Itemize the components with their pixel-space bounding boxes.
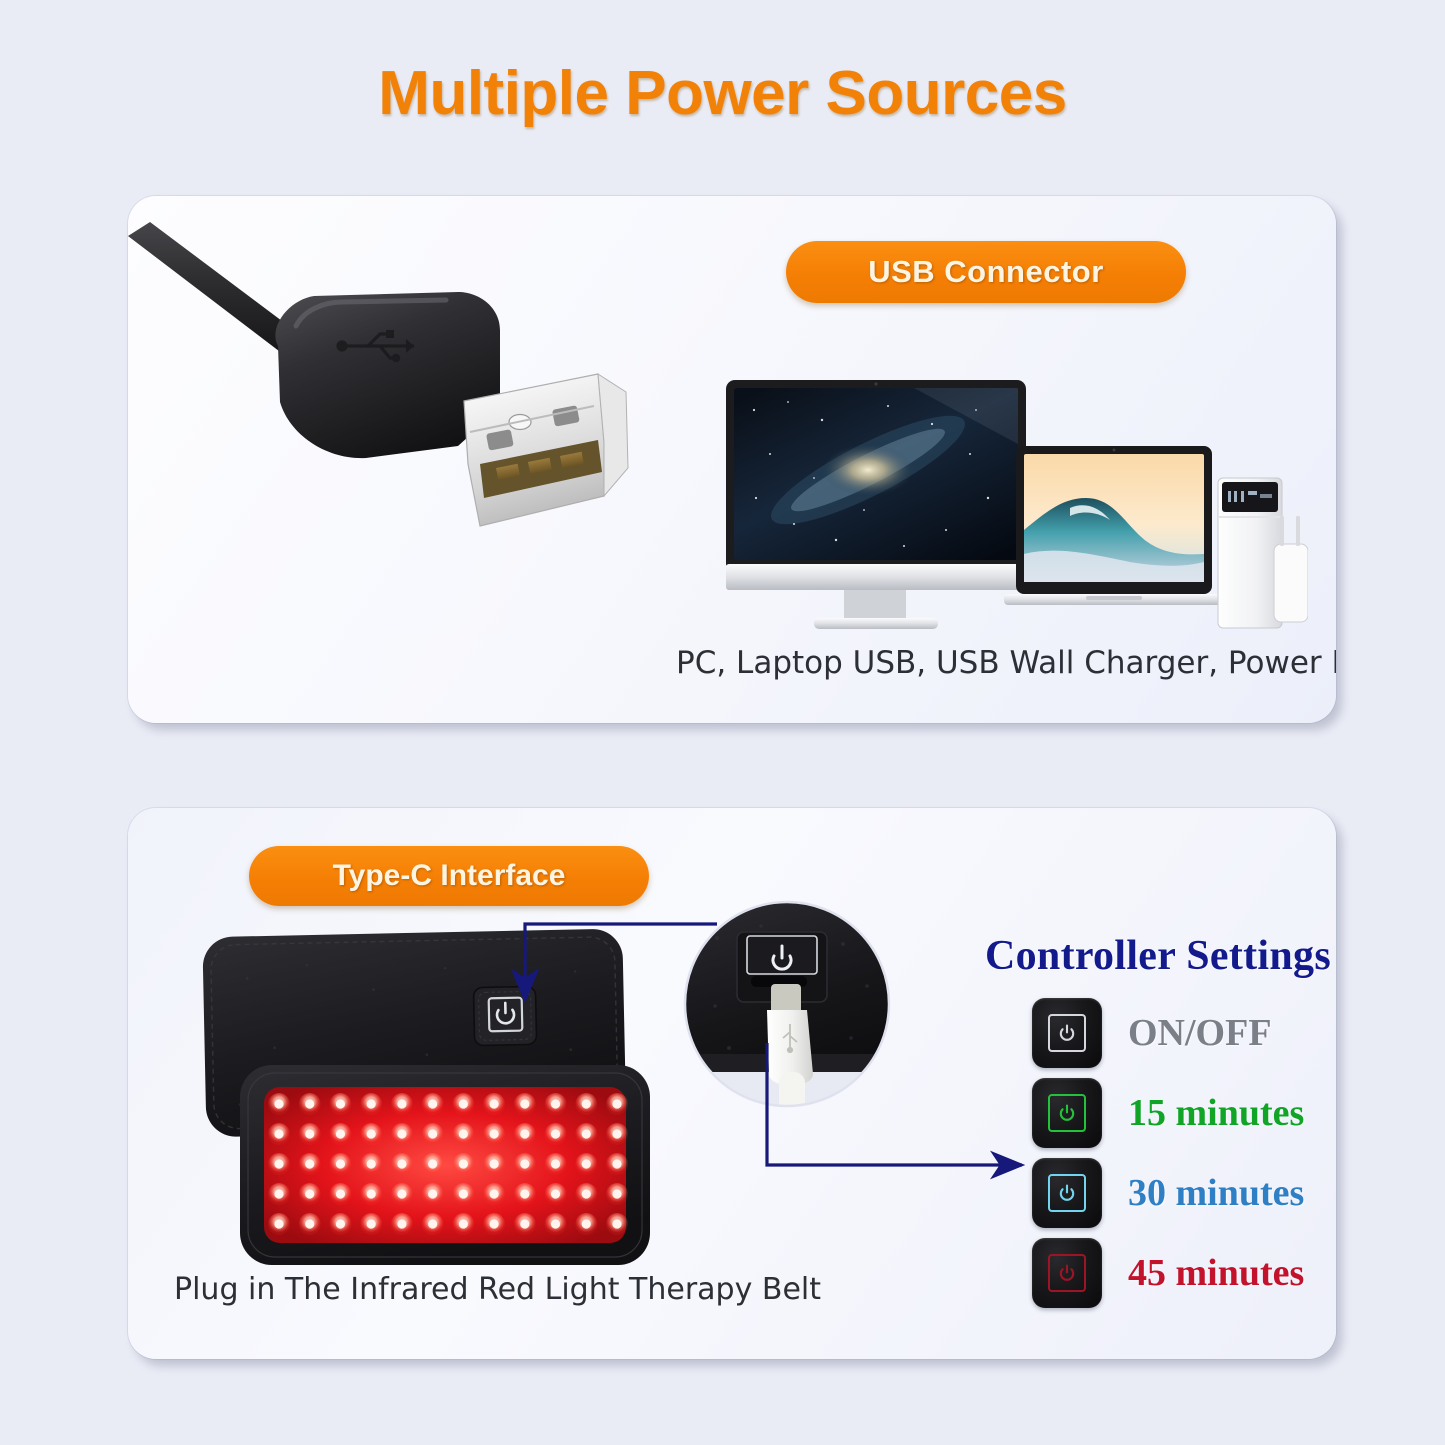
typec-interface-badge-label: Type-C Interface: [333, 859, 566, 893]
setting-row[interactable]: 45 minutes: [1032, 1238, 1336, 1308]
devices-svg: [718, 358, 1308, 633]
controller-button-2[interactable]: [1032, 1078, 1102, 1148]
usb-cable-svg: [128, 196, 708, 626]
inset-svg: [655, 898, 945, 1148]
device-power-bank: [1218, 478, 1282, 628]
controller-settings-list: ON/OFF15 minutes30 minutes45 minutes: [1032, 998, 1336, 1318]
belt-power-button: [473, 986, 536, 1045]
typec-interface-badge[interactable]: Type-C Interface: [249, 846, 649, 906]
controller-button-1[interactable]: [1032, 998, 1102, 1068]
usb-connector-card: USB Connector PC, Laptop USB, USB Wall C…: [128, 196, 1336, 723]
usb-connector-badge-label: USB Connector: [868, 254, 1104, 290]
page-title: Multiple Power Sources: [0, 58, 1445, 129]
device-monitor: [726, 380, 1026, 629]
setting-row[interactable]: ON/OFF: [1032, 998, 1336, 1068]
usb-devices-caption: PC, Laptop USB, USB Wall Charger, Power …: [676, 645, 1336, 681]
power-icon: [1048, 1254, 1086, 1292]
therapy-belt-illustration: [178, 905, 708, 1275]
controller-button-3[interactable]: [1032, 1158, 1102, 1228]
setting-label: 45 minutes: [1128, 1251, 1304, 1295]
setting-label: 15 minutes: [1128, 1091, 1304, 1135]
power-icon: [1048, 1094, 1086, 1132]
controller-button-4[interactable]: [1032, 1238, 1102, 1308]
setting-row[interactable]: 15 minutes: [1032, 1078, 1336, 1148]
power-icon: [1048, 1014, 1086, 1052]
typec-interface-card: Type-C Interface Plug in The Infrared Re…: [128, 808, 1336, 1359]
power-icon: [1048, 1174, 1086, 1212]
devices-cluster: [718, 358, 1308, 633]
usb-cable-illustration: [128, 196, 708, 626]
setting-label: 30 minutes: [1128, 1171, 1304, 1215]
controller-settings-heading: Controller Settings: [985, 932, 1331, 980]
typec-belt-caption: Plug in The Infrared Red Light Therapy B…: [174, 1272, 821, 1307]
device-laptop: [1004, 446, 1224, 605]
usb-connector-badge[interactable]: USB Connector: [786, 241, 1186, 303]
power-button-detail-inset: [655, 898, 945, 1148]
therapy-belt-svg: [178, 905, 708, 1275]
setting-label: ON/OFF: [1128, 1011, 1272, 1055]
setting-row[interactable]: 30 minutes: [1032, 1158, 1336, 1228]
